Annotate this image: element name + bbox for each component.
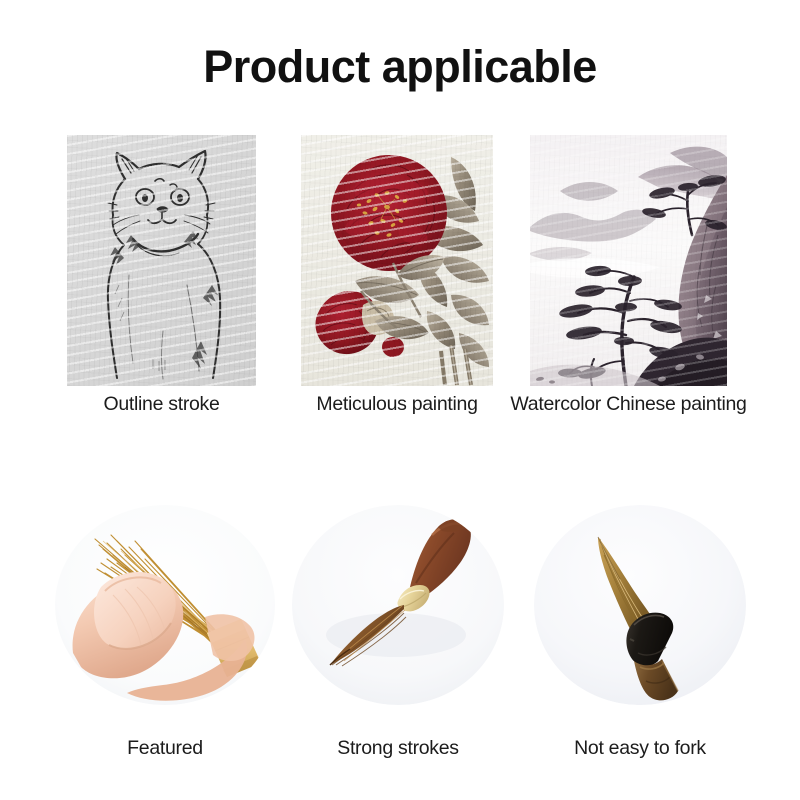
applications-row: Outline stroke: [0, 135, 800, 435]
photo-fingers-splaying-brush-bristles: [55, 505, 275, 705]
feature-label-featured: Featured: [127, 737, 203, 760]
application-card-meticulous-painting[interactable]: Meticulous painting: [301, 135, 493, 386]
brush-curved-tip-illustration: [292, 505, 504, 705]
hand-and-bristles-illustration: [55, 505, 275, 705]
cat-sketch-illustration: [67, 135, 256, 386]
artwork-ink-sketch-cat: [67, 135, 256, 386]
feature-label-not-easy-to-fork: Not easy to fork: [574, 737, 706, 760]
application-card-watercolor-chinese-painting[interactable]: Watercolor Chinese painting: [530, 135, 727, 386]
peony-painting-illustration: [301, 135, 493, 386]
photo-brush-sharp-point: [534, 505, 746, 705]
photo-brush-with-curved-tip: [292, 505, 504, 705]
feature-card-not-easy-to-fork[interactable]: Not easy to fork: [534, 505, 746, 705]
landscape-painting-illustration: [530, 135, 727, 386]
artwork-gongbi-red-peony: [301, 135, 493, 386]
feature-label-strong-strokes: Strong strokes: [337, 737, 459, 760]
brush-sharp-point-illustration: [534, 505, 746, 705]
application-label-meticulous-painting: Meticulous painting: [316, 393, 477, 416]
feature-card-strong-strokes[interactable]: Strong strokes: [292, 505, 504, 705]
artwork-ink-wash-mountain-pines: [530, 135, 727, 386]
feature-card-featured[interactable]: Featured: [55, 505, 275, 705]
application-card-outline-stroke[interactable]: Outline stroke: [67, 135, 256, 386]
page-title: Product applicable: [0, 40, 800, 94]
features-row: Featured: [0, 505, 800, 795]
application-label-outline-stroke: Outline stroke: [103, 393, 219, 416]
application-label-watercolor-chinese-painting: Watercolor Chinese painting: [510, 393, 746, 416]
